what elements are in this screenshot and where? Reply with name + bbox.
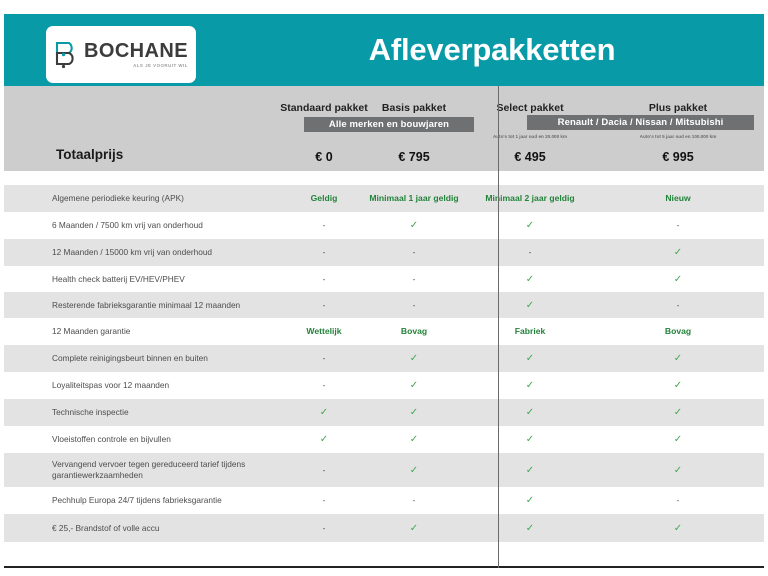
table-cell: Bovag [350, 326, 478, 337]
table-footer-strip [4, 542, 764, 566]
table-row: Health check batterij EV/HEV/PHEV--✓✓ [4, 266, 764, 292]
table-cell: ✓ [350, 220, 478, 231]
table-row: Technische inspectie✓✓✓✓ [4, 399, 764, 426]
table-cell: ✓ [466, 353, 594, 364]
table-cell: ✓ [614, 353, 742, 364]
table-cell: ✓ [350, 407, 478, 418]
table-cell: Nieuw [614, 193, 742, 204]
packages-comparison-table: Totaalprijs Standaard pakketBasis pakket… [4, 86, 764, 568]
row-label: Health check batterij EV/HEV/PHEV [52, 274, 257, 285]
table-cell: - [350, 300, 478, 311]
column-note-3: Auto's tot 1 jaar oud en 20.000 km [466, 134, 594, 139]
column-group-bar-1: Alle merken en bouwjaren [304, 117, 474, 132]
row-label: Pechhulp Europa 24/7 tijdens fabrieksgar… [52, 495, 257, 506]
table-cell: ✓ [350, 523, 478, 534]
table-cell: ✓ [614, 407, 742, 418]
table-cell: ✓ [466, 495, 594, 506]
column-price-3: € 495 [466, 150, 594, 164]
table-row: Vloeistoffen controle en bijvullen✓✓✓✓ [4, 426, 764, 453]
table-cell: ✓ [614, 247, 742, 258]
row-label: Algemene periodieke keuring (APK) [52, 193, 257, 204]
table-cell: ✓ [466, 434, 594, 445]
column-group-bar-2: Renault / Dacia / Nissan / Mitsubishi [527, 115, 754, 130]
table-cell: ✓ [614, 274, 742, 285]
table-cell: - [614, 300, 742, 311]
table-cell: ✓ [614, 465, 742, 476]
column-header-2: Basis pakket [350, 102, 478, 114]
row-label: Vloeistoffen controle en bijvullen [52, 434, 257, 445]
page-title: Afleverpakketten [220, 14, 764, 86]
column-price-4: € 995 [614, 150, 742, 164]
table-cell: ✓ [466, 523, 594, 534]
table-row: Complete reinigingsbeurt binnen en buite… [4, 345, 764, 372]
brand-logo[interactable]: BOCHANE ALS JE VOORUIT WIL [46, 26, 196, 83]
column-header-4: Plus pakket [614, 102, 742, 114]
table-cell: ✓ [466, 465, 594, 476]
table-row: Algemene periodieke keuring (APK)GeldigM… [4, 185, 764, 212]
table-cell: ✓ [466, 407, 594, 418]
table-cell: - [350, 495, 478, 506]
table-row: Resterende fabrieksgarantie minimaal 12 … [4, 292, 764, 318]
table-cell: - [350, 274, 478, 285]
table-cell: - [350, 247, 478, 258]
row-label: € 25,- Brandstof of volle accu [52, 523, 257, 534]
header-gap-strip [4, 171, 764, 185]
table-cell: Minimaal 2 jaar geldig [466, 193, 594, 204]
brand-wordmark: BOCHANE [84, 41, 188, 61]
row-label: 6 Maanden / 7500 km vrij van onderhoud [52, 220, 257, 231]
brand-tagline: ALS JE VOORUIT WIL [133, 63, 188, 68]
table-cell: ✓ [614, 523, 742, 534]
table-cell: - [614, 495, 742, 506]
table-row: € 25,- Brandstof of volle accu-✓✓✓ [4, 514, 764, 542]
row-label-header: Totaalprijs [56, 147, 123, 162]
table-cell: ✓ [466, 274, 594, 285]
table-row: 12 Maanden garantieWettelijkBovagFabriek… [4, 318, 764, 345]
column-price-2: € 795 [350, 150, 478, 164]
table-row: Vervangend vervoer tegen gereduceerd tar… [4, 453, 764, 487]
table-cell: - [614, 220, 742, 231]
table-cell: Fabriek [466, 326, 594, 337]
row-label: 12 Maanden garantie [52, 326, 257, 337]
afleverpakketten-sheet: BOCHANE ALS JE VOORUIT WIL Afleverpakket… [0, 0, 768, 576]
row-label: Technische inspectie [52, 407, 257, 418]
table-cell: ✓ [350, 380, 478, 391]
table-row: Loyaliteitspas voor 12 maanden-✓✓✓ [4, 372, 764, 399]
row-label: 12 Maanden / 15000 km vrij van onderhoud [52, 247, 257, 258]
table-cell: Minimaal 1 jaar geldig [350, 193, 478, 204]
table-cell: Bovag [614, 326, 742, 337]
table-cell: ✓ [350, 353, 478, 364]
table-cell: ✓ [466, 300, 594, 311]
table-cell: - [466, 247, 594, 258]
table-cell: ✓ [614, 434, 742, 445]
row-label: Resterende fabrieksgarantie minimaal 12 … [52, 300, 257, 311]
row-label: Loyaliteitspas voor 12 maanden [52, 380, 257, 391]
table-cell: ✓ [466, 220, 594, 231]
row-label: Vervangend vervoer tegen gereduceerd tar… [52, 459, 257, 481]
table-cell: ✓ [350, 434, 478, 445]
column-group-divider [498, 86, 499, 568]
table-row: 12 Maanden / 15000 km vrij van onderhoud… [4, 239, 764, 266]
table-cell: ✓ [466, 380, 594, 391]
row-label: Complete reinigingsbeurt binnen en buite… [52, 353, 257, 364]
table-cell: ✓ [350, 465, 478, 476]
table-row: Pechhulp Europa 24/7 tijdens fabrieksgar… [4, 487, 764, 514]
bochane-mark-icon [54, 40, 79, 70]
table-row: 6 Maanden / 7500 km vrij van onderhoud-✓… [4, 212, 764, 239]
column-note-4: Auto's tot 5 jaar oud en 100.000 km [614, 134, 742, 139]
column-header-3: Select pakket [466, 102, 594, 114]
table-cell: ✓ [614, 380, 742, 391]
